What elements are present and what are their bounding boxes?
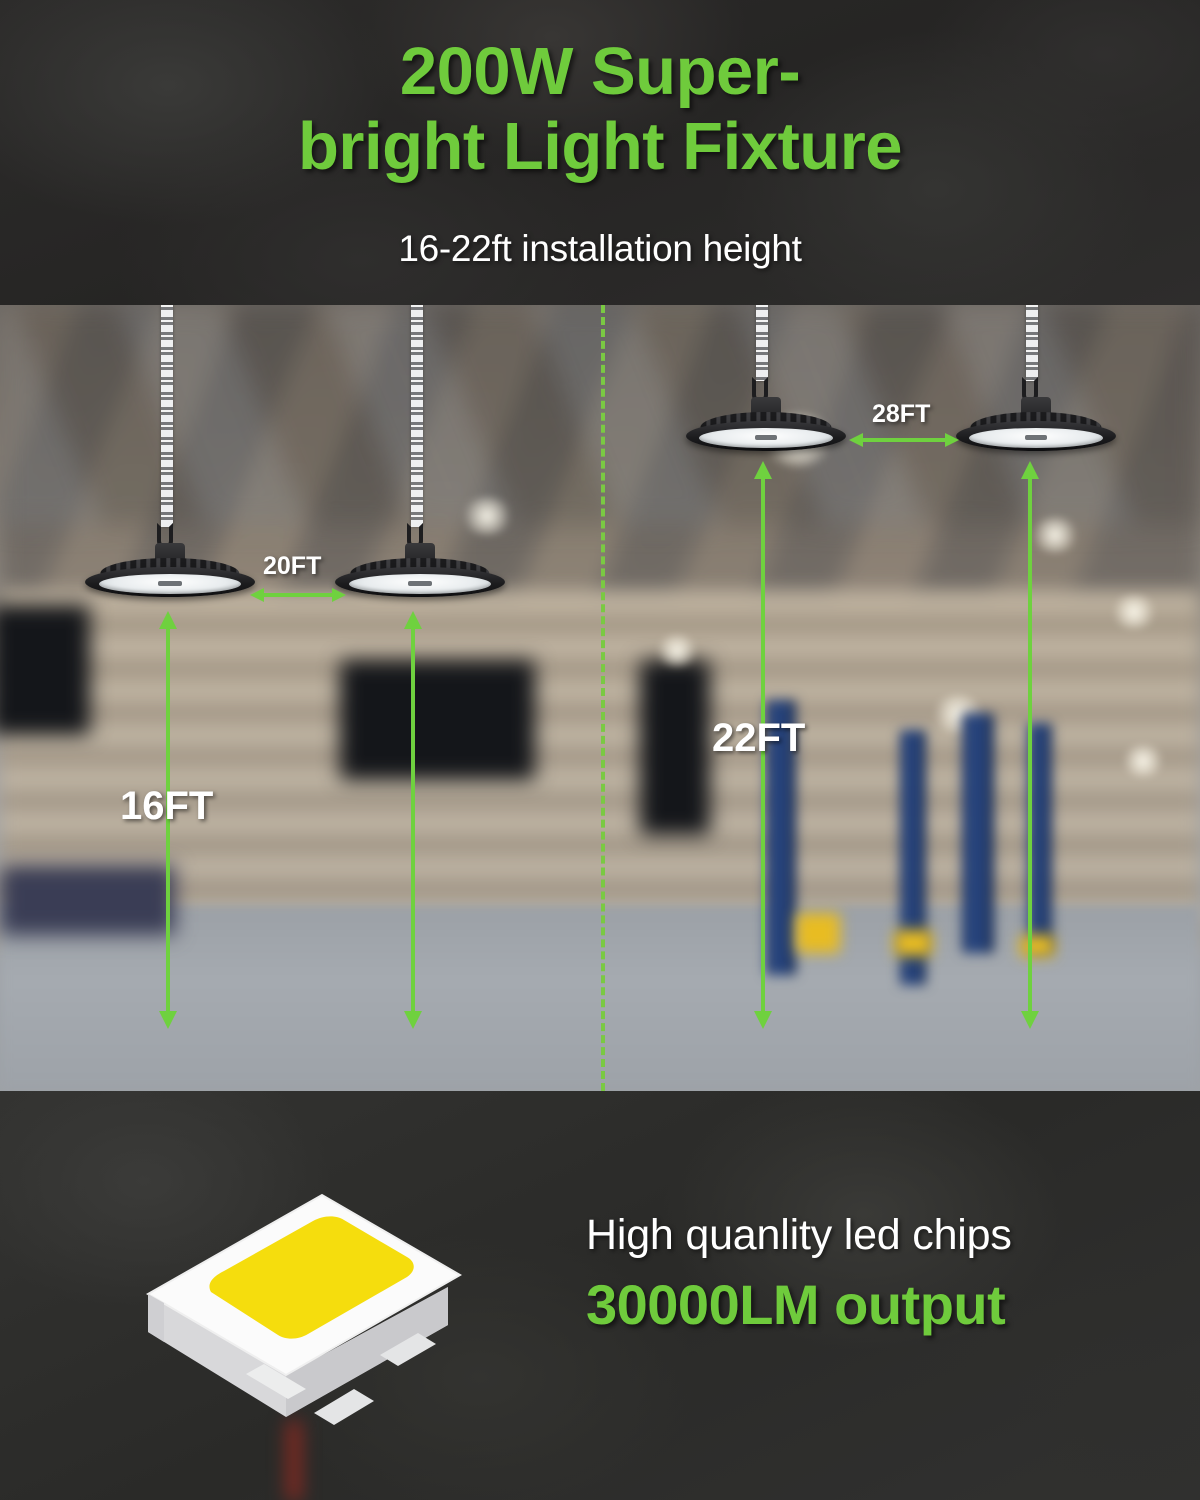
- header-section: 200W Super- bright Light Fixture 16-22ft…: [0, 0, 1200, 305]
- dark-panel-left: [0, 865, 175, 935]
- chain-left-a: [161, 305, 173, 527]
- infographic-page: 200W Super- bright Light Fixture 16-22ft…: [0, 0, 1200, 1500]
- chain-right-b: [1026, 305, 1038, 381]
- led-chip-section: High quanlity led chips 30000LM output: [0, 1091, 1200, 1500]
- spacing-arrow-left: [262, 593, 334, 597]
- height-label-right: 22FT: [712, 716, 805, 761]
- ceiling-glow-1: [460, 497, 514, 535]
- title-line-1: 200W Super-: [0, 34, 1200, 109]
- height-arrow-left-b: [411, 627, 415, 1013]
- doorway-left: [0, 605, 90, 735]
- high-bay-fixture-right-b: [956, 397, 1116, 455]
- fixture-nameplate-icon: [158, 581, 182, 586]
- led-chip-image: [118, 1137, 488, 1467]
- high-bay-fixture-left-a: [85, 543, 255, 605]
- fixture-nameplate-icon: [1025, 435, 1047, 440]
- ceiling-glow-4: [1110, 595, 1158, 629]
- led-chip-icon: [118, 1137, 488, 1467]
- high-bay-fixture-right-a: [686, 397, 846, 455]
- page-subtitle: 16-22ft installation height: [0, 228, 1200, 270]
- fixture-nameplate-icon: [408, 581, 432, 586]
- page-title: 200W Super- bright Light Fixture: [0, 34, 1200, 184]
- lumen-output-heading: 30000LM output: [586, 1272, 1012, 1337]
- installation-diagram: 20FT 16FT Dia:42ft 28FT: [0, 305, 1200, 1091]
- spacing-label-left: 20FT: [263, 552, 321, 581]
- scenario-divider: [601, 305, 605, 1091]
- doorway-center: [340, 660, 535, 780]
- spacing-arrow-right: [861, 438, 947, 442]
- lift-base-yellow-3: [1020, 935, 1054, 957]
- vehicle-lift-3: [962, 713, 994, 953]
- ceiling-glow-5: [655, 635, 699, 667]
- lift-base-yellow-1: [796, 913, 840, 953]
- led-chip-heading: High quanlity led chips: [586, 1211, 1012, 1260]
- title-line-2: bright Light Fixture: [0, 109, 1200, 184]
- doorway-right: [640, 660, 710, 835]
- floor-backdrop: [0, 905, 1200, 1091]
- chain-right-a: [756, 305, 768, 381]
- height-label-left: 16FT: [120, 784, 213, 829]
- shelving-wall-backdrop: [0, 590, 1200, 950]
- ceiling-glow-3: [1030, 517, 1080, 553]
- fixture-nameplate-icon: [755, 435, 777, 440]
- high-bay-fixture-left-b: [335, 543, 505, 605]
- spacing-label-right: 28FT: [872, 400, 930, 429]
- chain-left-b: [411, 305, 423, 527]
- height-arrow-right-b: [1028, 477, 1032, 1013]
- ceiling-glow-7: [1120, 745, 1166, 777]
- led-chip-copy: High quanlity led chips 30000LM output: [586, 1211, 1012, 1337]
- lift-base-yellow-2: [894, 930, 932, 956]
